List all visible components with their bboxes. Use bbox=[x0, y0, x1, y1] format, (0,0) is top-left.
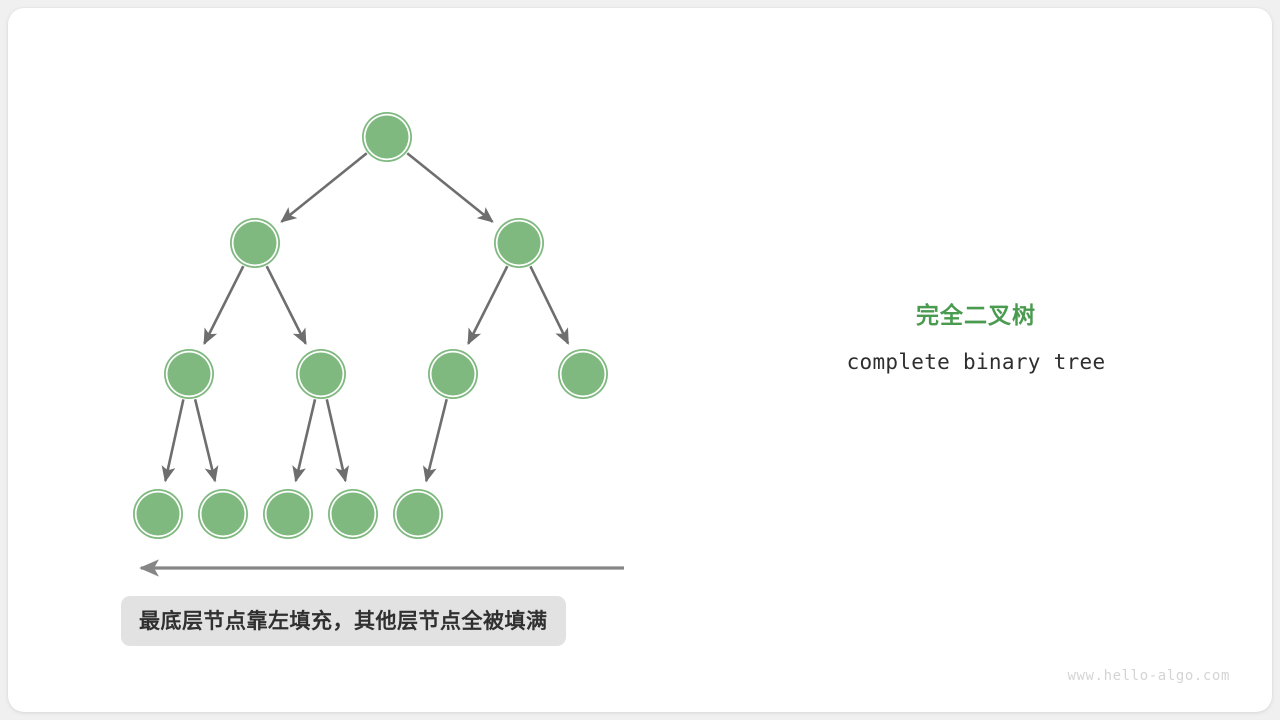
tree-node bbox=[428, 349, 478, 399]
tree-node-core bbox=[332, 493, 375, 536]
tree-node bbox=[393, 489, 443, 539]
tree-node bbox=[296, 349, 346, 399]
tree-edge bbox=[530, 266, 568, 343]
tree-edge bbox=[195, 399, 215, 481]
tree-edges bbox=[165, 153, 568, 481]
tree-node bbox=[263, 489, 313, 539]
tree-edge bbox=[267, 266, 306, 343]
tree-node-core bbox=[137, 493, 180, 536]
tree-node-core bbox=[202, 493, 245, 536]
tree-edge bbox=[327, 399, 346, 481]
tree-node bbox=[362, 112, 412, 162]
tree-node bbox=[558, 349, 608, 399]
tree-node bbox=[198, 489, 248, 539]
diagram-stage: 完全二叉树 complete binary tree 最底层节点靠左填充，其他层… bbox=[0, 0, 1280, 720]
tree-node-core bbox=[432, 353, 475, 396]
tree-node-core bbox=[168, 353, 211, 396]
tree-node-core bbox=[562, 353, 605, 396]
diagram-card: 完全二叉树 complete binary tree 最底层节点靠左填充，其他层… bbox=[8, 8, 1272, 712]
tree-node bbox=[230, 218, 280, 268]
tree-edge bbox=[282, 153, 367, 221]
tree-nodes bbox=[133, 112, 608, 539]
tree-node bbox=[164, 349, 214, 399]
tree-edge bbox=[407, 153, 492, 221]
tree-node-core bbox=[234, 222, 277, 265]
legend-subtitle: complete binary tree bbox=[788, 348, 1164, 376]
tree-edge bbox=[426, 399, 446, 481]
tree-node bbox=[494, 218, 544, 268]
caption-container: 最底层节点靠左填充，其他层节点全被填满 bbox=[121, 596, 566, 646]
watermark-label: www.hello-algo.com bbox=[1067, 668, 1230, 684]
legend-title: 完全二叉树 bbox=[788, 300, 1164, 330]
tree-edge bbox=[165, 399, 183, 480]
legend-block: 完全二叉树 complete binary tree bbox=[788, 300, 1164, 376]
caption-label: 最底层节点靠左填充，其他层节点全被填满 bbox=[121, 596, 566, 646]
tree-node-core bbox=[267, 493, 310, 536]
tree-node-core bbox=[366, 116, 409, 159]
tree-node-core bbox=[300, 353, 343, 396]
tree-node bbox=[328, 489, 378, 539]
tree-edge bbox=[296, 399, 315, 481]
tree-edge bbox=[468, 266, 507, 343]
tree-node bbox=[133, 489, 183, 539]
tree-node-core bbox=[498, 222, 541, 265]
tree-edge bbox=[204, 266, 243, 343]
tree-node-core bbox=[397, 493, 440, 536]
